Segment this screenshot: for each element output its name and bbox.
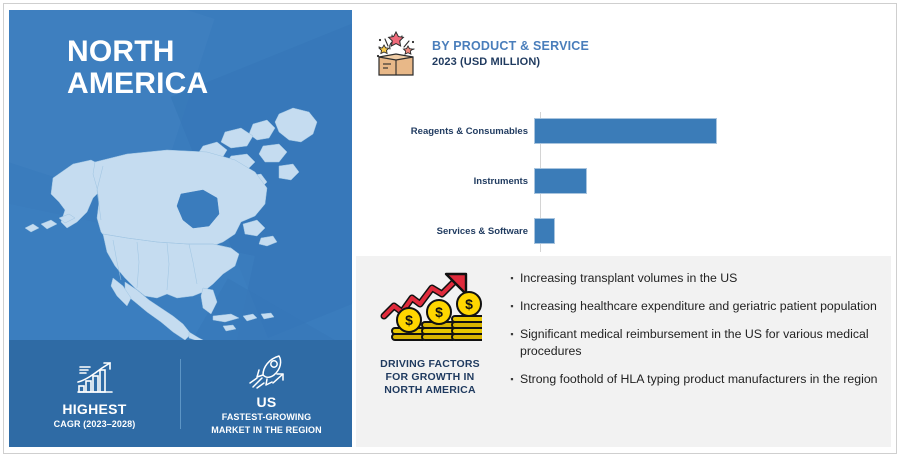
region-title-line1: NORTH: [67, 36, 208, 68]
bar-track: [534, 166, 891, 196]
region-title-line2: AMERICA: [67, 68, 208, 100]
region-stats-band: HIGHEST CAGR (2023–2028): [9, 340, 352, 447]
stat-divider: [180, 359, 181, 429]
list-item: ▪ Increasing transplant volumes in the U…: [504, 270, 883, 287]
chart-title: BY PRODUCT & SERVICE: [432, 39, 589, 54]
list-item: ▪ Increasing healthcare expenditure and …: [504, 298, 883, 315]
stat-sub-label: CAGR (2023–2028): [54, 419, 136, 430]
north-america-map: [17, 102, 347, 342]
svg-text:$: $: [405, 312, 413, 328]
chart-subtitle: 2023 (USD MILLION): [432, 55, 589, 69]
bullet-icon: ▪: [504, 326, 520, 343]
infographic-root: NORTH AMERICA: [0, 0, 900, 457]
bar-instruments: [534, 168, 587, 194]
product-service-chart: BY PRODUCT & SERVICE 2023 (USD MILLION) …: [356, 10, 891, 256]
bar-reagents-consumables: [534, 118, 717, 144]
bar-row: Reagents & Consumables: [356, 116, 891, 146]
list-item-text: Significant medical reimbursement in the…: [520, 326, 883, 360]
stat-highest-cagr: HIGHEST CAGR (2023–2028): [9, 358, 180, 430]
caption-line-1: DRIVING FACTORS: [380, 358, 480, 371]
stat-fastest-growing: US FASTEST-GROWING MARKET IN THE REGION: [181, 351, 352, 436]
bar-track: [534, 216, 891, 246]
list-item: ▪ Strong foothold of HLA typing product …: [504, 371, 883, 388]
svg-text:$: $: [465, 296, 473, 312]
stat-sub-label-2: MARKET IN THE REGION: [211, 425, 322, 436]
bar-category-label: Reagents & Consumables: [356, 126, 534, 137]
coin-stacks-growth-arrow-icon: $ $: [378, 272, 482, 350]
bar-plot: Reagents & Consumables Instruments Servi…: [356, 108, 891, 253]
stat-main-label: HIGHEST: [62, 402, 126, 417]
svg-text:$: $: [435, 304, 443, 320]
list-item: ▪ Significant medical reimbursement in t…: [504, 326, 883, 360]
driving-factors-block: $ $: [356, 256, 891, 447]
rocket-icon: [243, 351, 291, 391]
open-gift-box-confetti-icon: [374, 30, 418, 78]
driving-factors-caption-area: $ $: [356, 256, 504, 397]
bullet-icon: ▪: [504, 298, 520, 315]
bullet-icon: ▪: [504, 270, 520, 287]
region-panel: NORTH AMERICA: [9, 10, 352, 447]
bar-services-software: [534, 218, 555, 244]
stat-sub-label: FASTEST-GROWING: [222, 412, 312, 423]
stat-main-label: US: [256, 395, 276, 410]
list-item-text: Increasing transplant volumes in the US: [520, 270, 737, 287]
driving-factors-caption: DRIVING FACTORS FOR GROWTH IN NORTH AMER…: [380, 358, 480, 397]
region-title: NORTH AMERICA: [67, 36, 208, 100]
bar-chart-growth-arrow-icon: [72, 358, 118, 398]
bar-category-label: Instruments: [356, 176, 534, 187]
list-item-text: Increasing healthcare expenditure and ge…: [520, 298, 877, 315]
bar-row: Services & Software: [356, 216, 891, 246]
chart-header: BY PRODUCT & SERVICE 2023 (USD MILLION): [374, 30, 589, 78]
bar-category-label: Services & Software: [356, 226, 534, 237]
list-item-text: Strong foothold of HLA typing product ma…: [520, 371, 878, 388]
bar-track: [534, 116, 891, 146]
bullet-icon: ▪: [504, 371, 520, 388]
caption-line-3: NORTH AMERICA: [380, 384, 480, 397]
caption-line-2: FOR GROWTH IN: [380, 371, 480, 384]
right-card: BY PRODUCT & SERVICE 2023 (USD MILLION) …: [356, 10, 891, 447]
bar-row: Instruments: [356, 166, 891, 196]
driving-factors-list: ▪ Increasing transplant volumes in the U…: [504, 256, 891, 399]
